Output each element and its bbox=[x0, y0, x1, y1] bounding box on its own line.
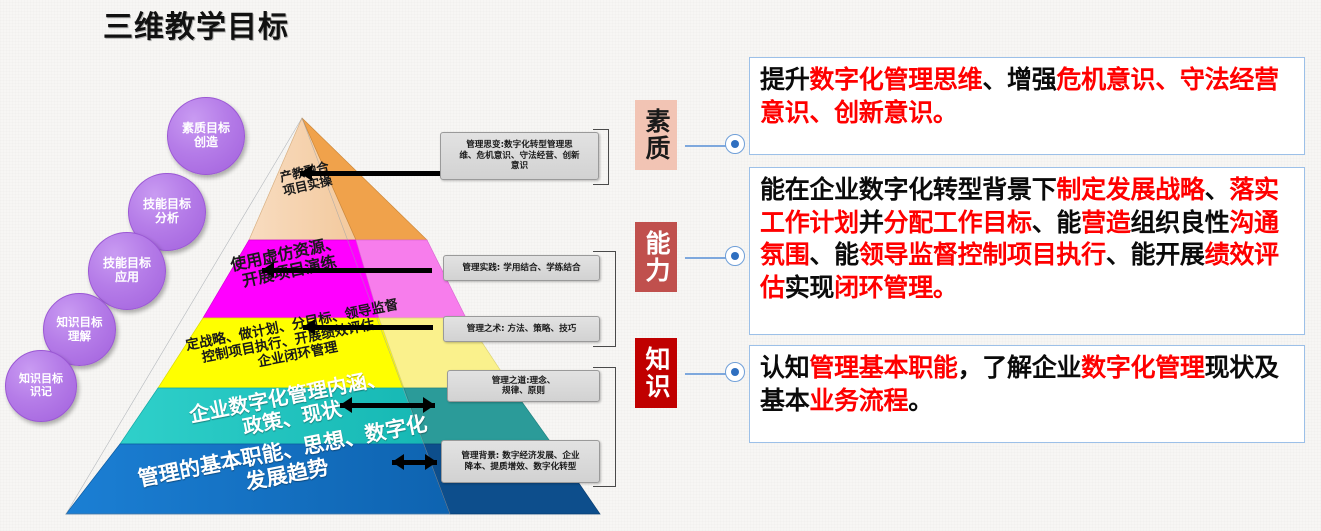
panel-text-run: 组织良性 bbox=[1131, 208, 1230, 237]
connector-suzhi bbox=[685, 134, 745, 156]
statement-panel-zhishi[interactable]: 认知管理基本职能，了解企业数字化管理现状及基本业务流程。 bbox=[749, 345, 1305, 443]
pyramid-diagram: 产教融合 项目实操 使用虚仿资源、 开展项目演练 定战略、做计划、分目标、领导监… bbox=[0, 40, 660, 531]
bubble-suzhi-chuangzao[interactable]: 素质目标 创造 bbox=[167, 97, 245, 175]
connector-ring-icon bbox=[725, 134, 745, 154]
dimension-chip-zhishi-label: 知识 bbox=[643, 346, 669, 400]
panel-text-run: 、增强 bbox=[982, 65, 1056, 94]
panel-text-run: 提升 bbox=[760, 65, 809, 94]
panel-text-run: 数字化管理 bbox=[1081, 353, 1205, 382]
panel-text-run: 、 bbox=[1205, 175, 1230, 204]
callout-guanli-sibian[interactable]: 管理思变:数字化转型管理思 维、危机意识、守法经营、创新 意识 bbox=[440, 132, 599, 180]
dimension-chip-nengli[interactable]: 能力 bbox=[635, 222, 677, 292]
callout-guanli-zhidao[interactable]: 管理之道:理念、 规律、原则 bbox=[447, 370, 600, 402]
connector-nengli bbox=[685, 246, 745, 268]
statement-panel-nengli[interactable]: 能在企业数字化转型背景下制定发展战略、落实工作计划并分配工作目标、能营造组织良性… bbox=[749, 167, 1305, 335]
panel-text-run: ，了解企业 bbox=[958, 353, 1082, 382]
panel-text-run: 并 bbox=[859, 208, 884, 237]
bracket-zhishi bbox=[593, 367, 616, 487]
panel-text-run: 数字化管理思维 bbox=[809, 65, 982, 94]
panel-text-run: 。 bbox=[908, 386, 933, 415]
bracket-nengli bbox=[593, 251, 616, 347]
panel-text-run: 实现 bbox=[785, 273, 834, 302]
panel-text-run: 闭环管理。 bbox=[834, 273, 958, 302]
callout-guanli-beijing[interactable]: 管理背景: 数字经济发展、企业 降本、提质增效、数字化转型 bbox=[441, 440, 600, 483]
dimension-chip-nengli-label: 能力 bbox=[643, 230, 669, 284]
connector-ring-icon bbox=[725, 246, 745, 266]
panel-text-run: 、能开展 bbox=[1106, 240, 1205, 269]
panel-text-run: 制定发展战略 bbox=[1056, 175, 1204, 204]
panel-text-run: 分配工作目标 bbox=[884, 208, 1032, 237]
slide-canvas: 三维教学目标 bbox=[0, 0, 1321, 531]
panel-text-run: 管理基本职能 bbox=[809, 353, 957, 382]
panel-text-run: 业务流程 bbox=[809, 386, 908, 415]
panel-text-run: 领导监督控制项目执行 bbox=[859, 240, 1106, 269]
panel-text-run: 认知 bbox=[760, 353, 809, 382]
bracket-suzhi bbox=[593, 129, 609, 185]
dimension-chip-suzhi[interactable]: 素质 bbox=[635, 100, 677, 170]
panel-text-run: 、能 bbox=[809, 240, 858, 269]
bubble-zhishi-shiji[interactable]: 知识目标 识记 bbox=[5, 350, 77, 422]
panel-text-run: 营造 bbox=[1081, 208, 1130, 237]
dimension-chip-suzhi-label: 素质 bbox=[643, 108, 669, 162]
connector-ring-icon bbox=[725, 362, 745, 382]
panel-text-run: 、能 bbox=[1032, 208, 1081, 237]
statement-panel-suzhi[interactable]: 提升数字化管理思维、增强危机意识、守法经营意识、创新意识。 bbox=[749, 57, 1305, 155]
callout-guanli-shijian[interactable]: 管理实践: 学用结合、学练结合 bbox=[443, 255, 600, 281]
panel-text-run: 能在企业数字化转型背景下 bbox=[760, 175, 1056, 204]
connector-zhishi bbox=[685, 362, 745, 384]
dimension-chip-zhishi[interactable]: 知识 bbox=[635, 338, 677, 408]
callout-guanli-zhishu[interactable]: 管理之术: 方法、策略、技巧 bbox=[443, 316, 600, 342]
